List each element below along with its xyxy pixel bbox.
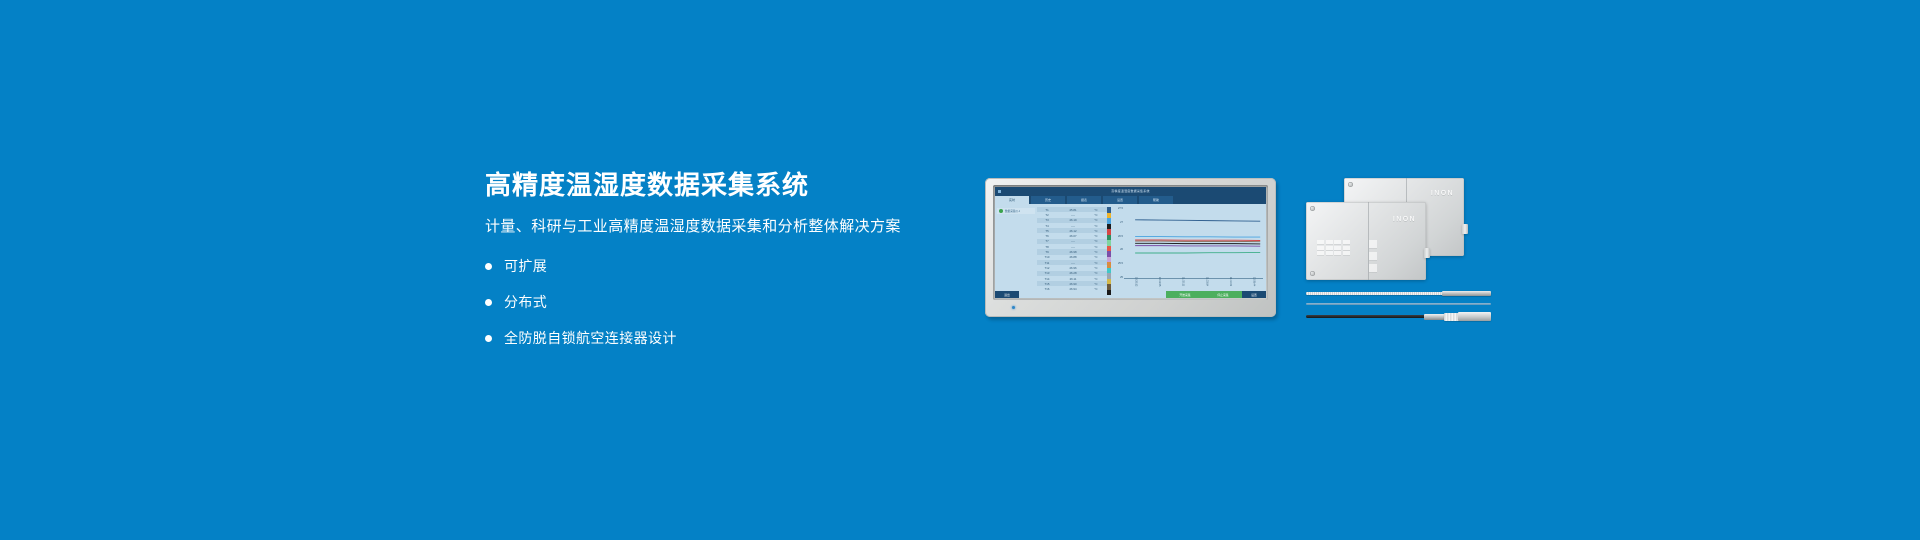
monitor-device: 高精度温湿度数据采集系统 实时 历史 报表 设置 帮助 数据采集仪-1 (985, 178, 1280, 320)
chart-line-T1 (1135, 220, 1260, 221)
table-cell: °C (1089, 282, 1103, 286)
table-cell: T8 (1037, 245, 1057, 249)
table-cell: ---- (1057, 239, 1089, 243)
probe-cable (1306, 292, 1446, 295)
page-subtitle: 计量、科研与工业高精度温湿度数据采集和分析整体解决方案 (485, 218, 955, 236)
table-cell: ---- (1057, 245, 1089, 249)
table-cell: °C (1089, 224, 1103, 228)
table-cell: °C (1089, 208, 1103, 212)
monitor-chin (993, 302, 1268, 313)
power-led-icon (1012, 306, 1015, 309)
table-cell: 26.90 (1057, 282, 1089, 286)
table-cell: T3 (1037, 218, 1057, 222)
screw-icon (1348, 182, 1353, 187)
feature-label: 可扩展 (504, 256, 547, 276)
table-row[interactable]: T1226.96°C (1037, 265, 1107, 270)
bullet-dot-icon (485, 299, 492, 306)
app-footer-toolbar: 退出开始采集停止采集设置 (995, 291, 1266, 298)
table-cell: 25.81 (1057, 208, 1089, 212)
probe-braided-temperature (1306, 290, 1491, 296)
monitor-inner-frame: 高精度温湿度数据采集系统 实时 历史 报表 设置 帮助 数据采集仪-1 (993, 185, 1268, 300)
table-cell: °C (1089, 218, 1103, 222)
table-row[interactable]: T1526.90°C (1037, 281, 1107, 286)
app-tab-bar: 实时 历史 报表 设置 帮助 (995, 195, 1266, 204)
table-row[interactable]: T7----°C (1037, 239, 1107, 244)
footer-button-3[interactable]: 停止采集 (1204, 291, 1242, 298)
table-cell: 26.07 (1057, 234, 1089, 238)
table-cell: T7 (1037, 239, 1057, 243)
tab-settings[interactable]: 设置 (1103, 196, 1137, 204)
table-cell: 26.88 (1057, 255, 1089, 259)
footer-button-2[interactable]: 开始采集 (1166, 291, 1204, 298)
table-row[interactable]: T526.12°C (1037, 228, 1107, 233)
table-cell: T11 (1037, 261, 1057, 265)
table-cell: T1 (1037, 208, 1057, 212)
sidebar-item-label: 数据采集仪-1 (1005, 209, 1020, 213)
channel-table: T125.81°CT2----°CT326.19°CT4----°CT526.1… (1037, 204, 1107, 295)
feature-label: 全防脱自锁航空连接器设计 (504, 328, 677, 348)
bullet-dot-icon (485, 335, 492, 342)
tab-report[interactable]: 报表 (1067, 196, 1101, 204)
table-row[interactable]: T1026.88°C (1037, 255, 1107, 260)
tab-realtime[interactable]: 实时 (995, 196, 1029, 204)
table-row[interactable]: T125.81°C (1037, 207, 1107, 212)
table-cell: T5 (1037, 229, 1057, 233)
table-cell: °C (1089, 239, 1103, 243)
list-item: 全防脱自锁航空连接器设计 (485, 328, 955, 348)
table-cell: ---- (1057, 224, 1089, 228)
banner-copy: 高精度温湿度数据采集系统 计量、科研与工业高精度温湿度数据采集和分析整体解决方案… (485, 172, 955, 348)
y-tick-label: 25.5 (1111, 262, 1123, 265)
chart-y-axis: 27.52726.52625.525 (1111, 207, 1123, 279)
table-cell: °C (1089, 213, 1103, 217)
chart-line-T5 (1135, 240, 1260, 241)
table-row[interactable]: T4----°C (1037, 223, 1107, 228)
tab-history[interactable]: 历史 (1031, 196, 1065, 204)
feature-list: 可扩展 分布式 全防脱自锁航空连接器设计 (485, 256, 955, 348)
list-item: 可扩展 (485, 256, 955, 276)
table-cell: °C (1089, 250, 1103, 254)
chart-line-T3 (1135, 237, 1260, 238)
chart-plot (1124, 207, 1263, 279)
table-cell: °C (1089, 229, 1103, 233)
table-cell: 26.12 (1057, 229, 1089, 233)
table-cell: 26.96 (1057, 266, 1089, 270)
y-tick-label: 26.5 (1111, 235, 1123, 238)
chart-series-svg (1124, 207, 1263, 278)
marking-grid (1317, 240, 1365, 255)
table-row[interactable]: T1326.28°C (1037, 271, 1107, 276)
table-cell: °C (1089, 261, 1103, 265)
table-cell: T9 (1037, 250, 1057, 254)
app-titlebar: 高精度温湿度数据采集系统 (995, 187, 1266, 195)
table-cell: °C (1089, 271, 1103, 275)
hardware-group: INON INON (1306, 178, 1491, 328)
table-row[interactable]: T11----°C (1037, 260, 1107, 265)
table-cell: T13 (1037, 271, 1057, 275)
bullet-dot-icon (485, 263, 492, 270)
probe-black-aviation-connector (1306, 311, 1491, 322)
device-tree-sidebar: 数据采集仪-1 (995, 204, 1037, 295)
table-cell: 26.19 (1057, 218, 1089, 222)
table-row[interactable]: T326.19°C (1037, 218, 1107, 223)
status-online-icon (999, 209, 1003, 213)
table-cell: T2 (1037, 213, 1057, 217)
chart-line-T12 (1135, 246, 1260, 247)
chart-line-T15 (1135, 252, 1260, 253)
y-tick-label: 26 (1111, 248, 1123, 251)
y-tick-label: 27 (1111, 221, 1123, 224)
feature-label: 分布式 (504, 292, 547, 312)
brand-logo: INON (1393, 216, 1416, 223)
footer-button-1[interactable]: 退出 (995, 291, 1019, 298)
brand-logo: INON (1431, 190, 1454, 197)
probe-cable (1306, 315, 1428, 318)
connector-ferrule (1424, 314, 1446, 320)
screw-icon (1310, 271, 1315, 276)
table-cell: T15 (1037, 282, 1057, 286)
table-cell: °C (1089, 277, 1103, 281)
probe-metal-tip (1442, 291, 1491, 296)
table-cell: °C (1089, 255, 1103, 259)
monitor-screen: 高精度温湿度数据采集系统 实时 历史 报表 设置 帮助 数据采集仪-1 (995, 187, 1266, 298)
chart-line-T6 (1135, 241, 1260, 242)
table-cell: T14 (1037, 277, 1057, 281)
y-tick-label: 27.5 (1111, 207, 1123, 210)
marking-column (1369, 240, 1377, 272)
table-row[interactable]: T926.98°C (1037, 249, 1107, 254)
y-tick-label: 25 (1111, 276, 1123, 279)
chart-line-T9 (1135, 243, 1260, 244)
screw-icon (1310, 206, 1315, 211)
footer-spacer (1019, 291, 1166, 298)
trend-chart: 27.52726.52625.525 10:20:3210:41:0511:02… (1111, 204, 1266, 295)
table-cell: 26.11 (1057, 277, 1089, 281)
table-row[interactable]: T2----°C (1037, 212, 1107, 217)
product-banner: 高精度温湿度数据采集系统 计量、科研与工业高精度温湿度数据采集和分析整体解决方案… (0, 0, 1920, 540)
page-title: 高精度温湿度数据采集系统 (485, 172, 955, 199)
probe-cable (1306, 303, 1491, 305)
enclosure-markings (1317, 240, 1365, 255)
table-cell: 26.98 (1057, 250, 1089, 254)
chart-area: 27.52726.52625.525 (1111, 207, 1263, 279)
connector-port (1424, 248, 1430, 258)
enclosure-front-unit: INON (1306, 202, 1426, 280)
table-cell: T12 (1037, 266, 1057, 270)
sidebar-item-device[interactable]: 数据采集仪-1 (997, 208, 1035, 214)
table-cell: ---- (1057, 261, 1089, 265)
table-cell: °C (1089, 266, 1103, 270)
connector-body (1458, 312, 1491, 321)
list-item: 分布式 (485, 292, 955, 312)
app-body: 数据采集仪-1 T125.81°CT2----°CT326.19°CT4----… (995, 204, 1266, 295)
table-cell: T6 (1037, 234, 1057, 238)
table-cell: T10 (1037, 255, 1057, 259)
table-row[interactable]: T626.07°C (1037, 233, 1107, 238)
footer-button-4[interactable]: 设置 (1242, 291, 1266, 298)
table-cell: °C (1089, 234, 1103, 238)
table-cell: 26.28 (1057, 271, 1089, 275)
table-cell: T4 (1037, 224, 1057, 228)
probe-blue-sensor-cable (1306, 302, 1491, 306)
app-title: 高精度温湿度数据采集系统 (995, 187, 1266, 195)
connector-port (1462, 224, 1468, 234)
tab-help[interactable]: 帮助 (1139, 196, 1173, 204)
table-cell: °C (1089, 245, 1103, 249)
table-row[interactable]: T8----°C (1037, 244, 1107, 249)
table-row[interactable]: T1426.11°C (1037, 276, 1107, 281)
table-cell: ---- (1057, 213, 1089, 217)
